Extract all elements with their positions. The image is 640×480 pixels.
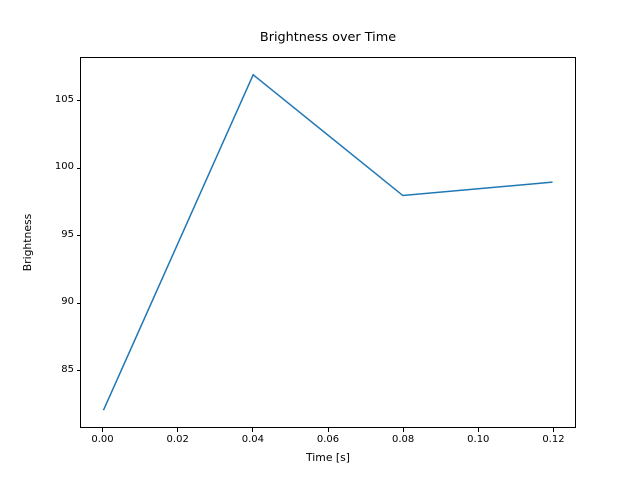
data-line — [103, 75, 552, 410]
x-tick-mark — [478, 428, 479, 432]
x-axis-label: Time [s] — [80, 452, 576, 465]
y-tick-mark — [77, 303, 81, 304]
x-tick-mark — [328, 428, 329, 432]
line-series-brightness — [81, 58, 575, 427]
x-tick-label: 0.12 — [523, 434, 583, 446]
x-tick-label: 0.10 — [448, 434, 508, 446]
chart-title: Brightness over Time — [80, 32, 576, 45]
x-tick-mark — [252, 428, 253, 432]
x-tick-mark — [553, 428, 554, 432]
x-tick-label: 0.00 — [73, 434, 133, 446]
x-tick-mark — [102, 428, 103, 432]
plot-area — [80, 57, 576, 428]
chart-figure: Brightness over Time 0.000.020.040.060.0… — [0, 0, 640, 480]
y-tick-mark — [77, 168, 81, 169]
y-axis-label: Brightness — [22, 57, 36, 428]
x-tick-label: 0.02 — [148, 434, 208, 446]
x-tick-mark — [403, 428, 404, 432]
x-tick-label: 0.06 — [298, 434, 358, 446]
y-tick-mark — [77, 100, 81, 101]
x-tick-label: 0.08 — [373, 434, 433, 446]
x-tick-label: 0.04 — [223, 434, 283, 446]
y-tick-mark — [77, 370, 81, 371]
y-tick-mark — [77, 235, 81, 236]
x-tick-mark — [177, 428, 178, 432]
